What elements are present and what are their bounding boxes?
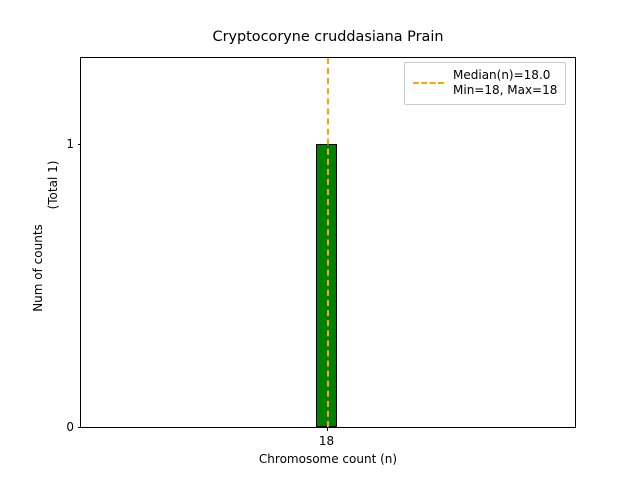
chart-title: Cryptocoryne cruddasiana Prain: [80, 30, 576, 44]
chart-figure: Cryptocoryne cruddasiana Prain 0 1 18 Me…: [0, 0, 640, 480]
y-tick-label-0: 0: [66, 420, 74, 434]
legend-entry-median: Median(n)=18.0 Min=18, Max=18: [413, 68, 557, 98]
legend-text-block: Median(n)=18.0 Min=18, Max=18: [453, 68, 557, 98]
x-tick-mark-18: [327, 427, 328, 431]
legend-label-minmax: Min=18, Max=18: [453, 83, 557, 98]
y-tick-label-1: 1: [66, 137, 74, 151]
dashed-line-icon: [413, 82, 444, 84]
x-tick-label-18: 18: [319, 434, 334, 448]
y-axis-label-total: (Total 1): [46, 161, 60, 210]
legend-label-median: Median(n)=18.0: [453, 68, 557, 83]
y-axis-label: Num of counts: [31, 224, 45, 312]
x-axis-label: Chromosome count (n): [80, 452, 576, 466]
plot-area: 0 1 18: [80, 57, 576, 428]
median-line: [327, 58, 329, 427]
legend: Median(n)=18.0 Min=18, Max=18: [404, 62, 566, 105]
y-tick-mark-0: [78, 427, 82, 428]
